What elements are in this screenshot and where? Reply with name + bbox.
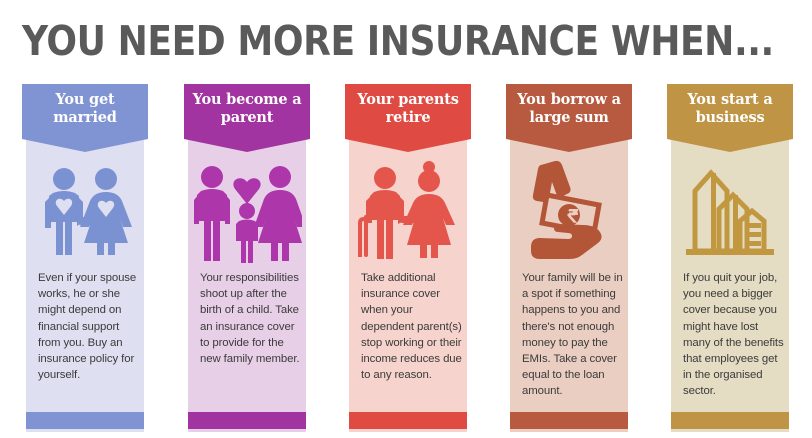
column-header-label: You get married (29, 91, 141, 126)
column-you-start-a-business[interactable]: You start a business (667, 84, 793, 432)
column-footer-bar (671, 412, 789, 429)
column-you-borrow-a-large-sum[interactable]: You borrow a large sum Your fami (506, 84, 632, 432)
column-header-label: Your parents retire (352, 91, 464, 126)
column-header: You borrow a large sum (506, 84, 632, 152)
column-body-text: Take additional insurance cover when you… (361, 270, 465, 383)
column-footer-bar (26, 412, 144, 429)
elderly-couple-icon (349, 156, 467, 266)
column-footer-bar (510, 412, 628, 429)
column-footer-bar (349, 412, 467, 429)
column-header: You get married (22, 84, 148, 152)
office-buildings-icon (671, 156, 789, 266)
column-body-text: Your responsibilities shoot up after the… (200, 270, 304, 367)
column-header: Your parents retire (345, 84, 471, 152)
column-header: You become a parent (184, 84, 310, 152)
infographic-title: YOU NEED MORE INSURANCE WHEN... (22, 18, 691, 66)
family-with-child-icon (188, 156, 306, 266)
column-body-text: Your family will be in a spot if somethi… (522, 270, 626, 400)
column-header-label: You become a parent (191, 91, 303, 126)
column-you-become-a-parent[interactable]: You become a parent (184, 84, 310, 432)
column-header-label: You borrow a large sum (513, 91, 625, 126)
married-couple-icon (26, 156, 144, 266)
money-in-hands-icon (510, 156, 628, 266)
column-your-parents-retire[interactable]: Your parents retire (345, 84, 471, 432)
column-header: You start a business (667, 84, 793, 152)
column-you-get-married[interactable]: You get married (22, 84, 148, 432)
column-header-label: You start a business (674, 91, 786, 126)
columns-container: You get married (0, 84, 812, 432)
column-body-text: If you quit your job, you need a bigger … (683, 270, 787, 400)
column-body-text: Even if your spouse works, he or she mig… (38, 270, 142, 383)
column-footer-bar (188, 412, 306, 429)
